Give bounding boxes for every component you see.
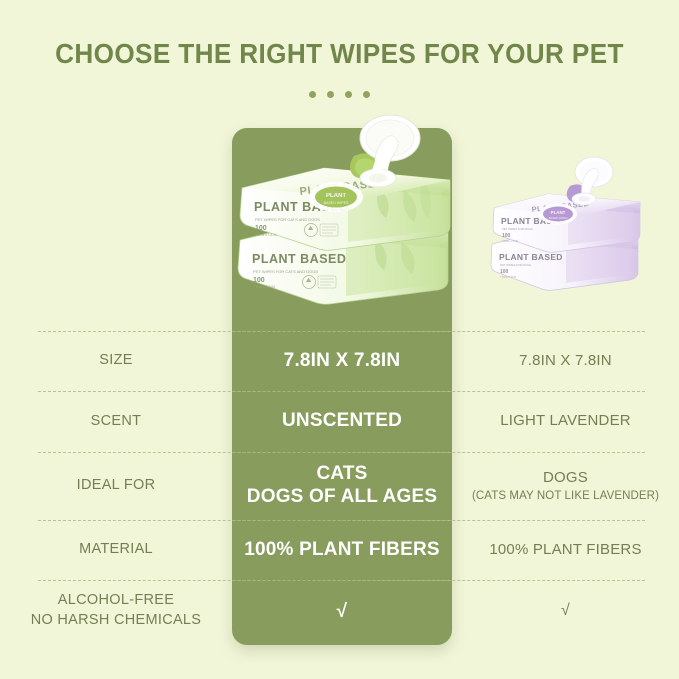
row-value-alt-alcohol-free: √ [452,603,679,619]
comparison-table: SIZE 7.8IN X 7.8IN 7.8IN X 7.8IN SCENT U… [0,331,679,642]
svg-text:PET WIPES FOR CATS AND DOGS: PET WIPES FOR CATS AND DOGS [255,217,320,222]
row-label-ideal-for: IDEAL FOR [0,476,232,496]
svg-text:7.8 IN x 7.8 IN: 7.8 IN x 7.8 IN [253,285,275,289]
row-value-alt-size: 7.8IN X 7.8IN [452,352,679,371]
svg-text:100: 100 [502,233,511,239]
decor-dot [327,91,334,98]
svg-text:PLANT: PLANT [326,193,346,199]
row-label-scent: SCENT [0,412,232,432]
table-row-scent: SCENT UNSCENTED LIGHT LAVENDER [0,391,679,452]
page-title: CHOOSE THE RIGHT WIPES FOR YOUR PET [17,38,662,70]
row-divider [38,391,645,392]
title-dot-decoration [0,91,679,98]
svg-text:PLANT: PLANT [551,210,566,215]
pack-top-lavender: PLANT BASED PET WIPES FOR DOGS 100 7.8 I… [493,184,640,252]
svg-text:PLANT BASED: PLANT BASED [252,252,346,266]
svg-text:7.8 IN x 7.8 IN: 7.8 IN x 7.8 IN [255,233,277,237]
label-line1: ALCOHOL-FREE [58,591,174,611]
table-row-alcohol-free: ALCOHOL-FREE NO HARSH CHEMICALS √ √ [0,580,679,642]
label-line2: NO HARSH CHEMICALS [31,611,202,631]
svg-text:100: 100 [253,277,265,284]
row-divider [38,452,645,453]
alt-value-line1: DOGS [543,469,588,488]
row-value-alt-scent: LIGHT LAVENDER [452,412,679,431]
wipes-lid-lavender [572,157,613,205]
product-image-lavender: PLANT BASED PET WIPES FOR DOGS 100 7.8 I… [484,152,648,302]
table-row-ideal-for: IDEAL FOR CATS DOGS OF ALL AGES DOGS (CA… [0,452,679,520]
svg-text:PET WIPES FOR CATS AND DOGS: PET WIPES FOR CATS AND DOGS [253,269,318,274]
row-value-main-scent: UNSCENTED [232,410,452,433]
row-divider [38,520,645,521]
row-value-main-size: 7.8IN X 7.8IN [232,350,452,373]
svg-text:BASED WIPES: BASED WIPES [324,201,349,205]
svg-text:PET WIPES FOR DOGS: PET WIPES FOR DOGS [502,227,533,231]
row-value-main-material: 100% PLANT FIBERS [232,539,452,562]
decor-dot [345,91,352,98]
main-value-line1: CATS [316,463,367,486]
infographic-root: CHOOSE THE RIGHT WIPES FOR YOUR PET [0,0,679,679]
pack-top: PLANT BASED PET WIPES FOR CATS AND DOGS … [240,153,450,250]
row-value-main-ideal-for: CATS DOGS OF ALL AGES [232,463,452,509]
row-value-alt-material: 100% PLANT FIBERS [452,541,679,560]
svg-text:PLANT BASED: PLANT BASED [499,252,563,262]
row-divider [38,580,645,581]
row-label-material: MATERIAL [0,540,232,560]
table-row-size: SIZE 7.8IN X 7.8IN 7.8IN X 7.8IN [0,331,679,391]
main-value-line2: DOGS OF ALL AGES [247,486,437,509]
svg-text:7.8 IN x 7.8 IN: 7.8 IN x 7.8 IN [502,240,518,243]
row-label-size: SIZE [0,351,232,371]
svg-text:PET WIPES FOR DOGS: PET WIPES FOR DOGS [500,263,531,267]
decor-dot [363,91,370,98]
row-label-alcohol-free: ALCOHOL-FREE NO HARSH CHEMICALS [0,591,232,630]
row-value-main-alcohol-free: √ [232,602,452,621]
table-row-material: MATERIAL 100% PLANT FIBERS 100% PLANT FI… [0,520,679,580]
decor-dot [309,91,316,98]
svg-text:7.8 IN x 7.8 IN: 7.8 IN x 7.8 IN [500,276,516,279]
svg-text:100: 100 [255,225,267,232]
product-image-unscented: PLANT BASED PET WIPES FOR CATS AND DOGS … [226,112,462,320]
svg-text:100: 100 [500,269,509,275]
svg-text:BASED WIPES: BASED WIPES [549,216,568,220]
alt-value-note: (CATS MAY NOT LIKE LAVENDER) [472,489,659,503]
row-divider [38,331,645,332]
row-value-alt-ideal-for: DOGS (CATS MAY NOT LIKE LAVENDER) [452,469,679,503]
